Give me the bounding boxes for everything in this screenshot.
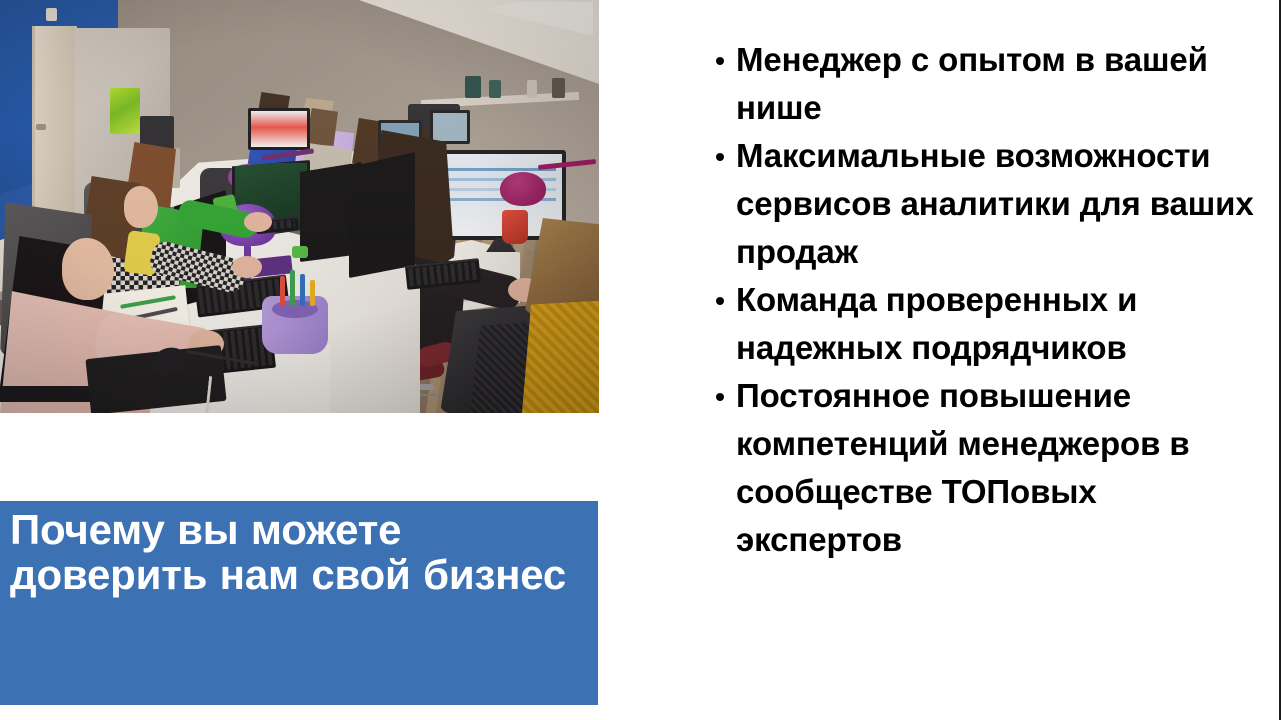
photo-vignette [0, 0, 599, 413]
slide-title-box: Почему вы можете доверить нам свой бизне… [0, 501, 598, 705]
office-photo [0, 0, 599, 413]
presentation-slide: Почему вы можете доверить нам свой бизне… [0, 0, 1281, 720]
bullet-item-1: Менеджер с опытом в вашей нише [736, 36, 1256, 132]
slide-title: Почему вы можете доверить нам свой бизне… [10, 507, 586, 597]
bullet-item-3: Команда проверенных и надежных подрядчик… [736, 276, 1256, 372]
bullet-item-2: Максимальные возможности сервисов аналит… [736, 132, 1256, 276]
photo-scene [0, 0, 599, 413]
bullet-list: Менеджер с опытом в вашей нише Максималь… [702, 36, 1256, 564]
bullet-item-4: Постоянное повышение компетенций менедже… [736, 372, 1256, 564]
